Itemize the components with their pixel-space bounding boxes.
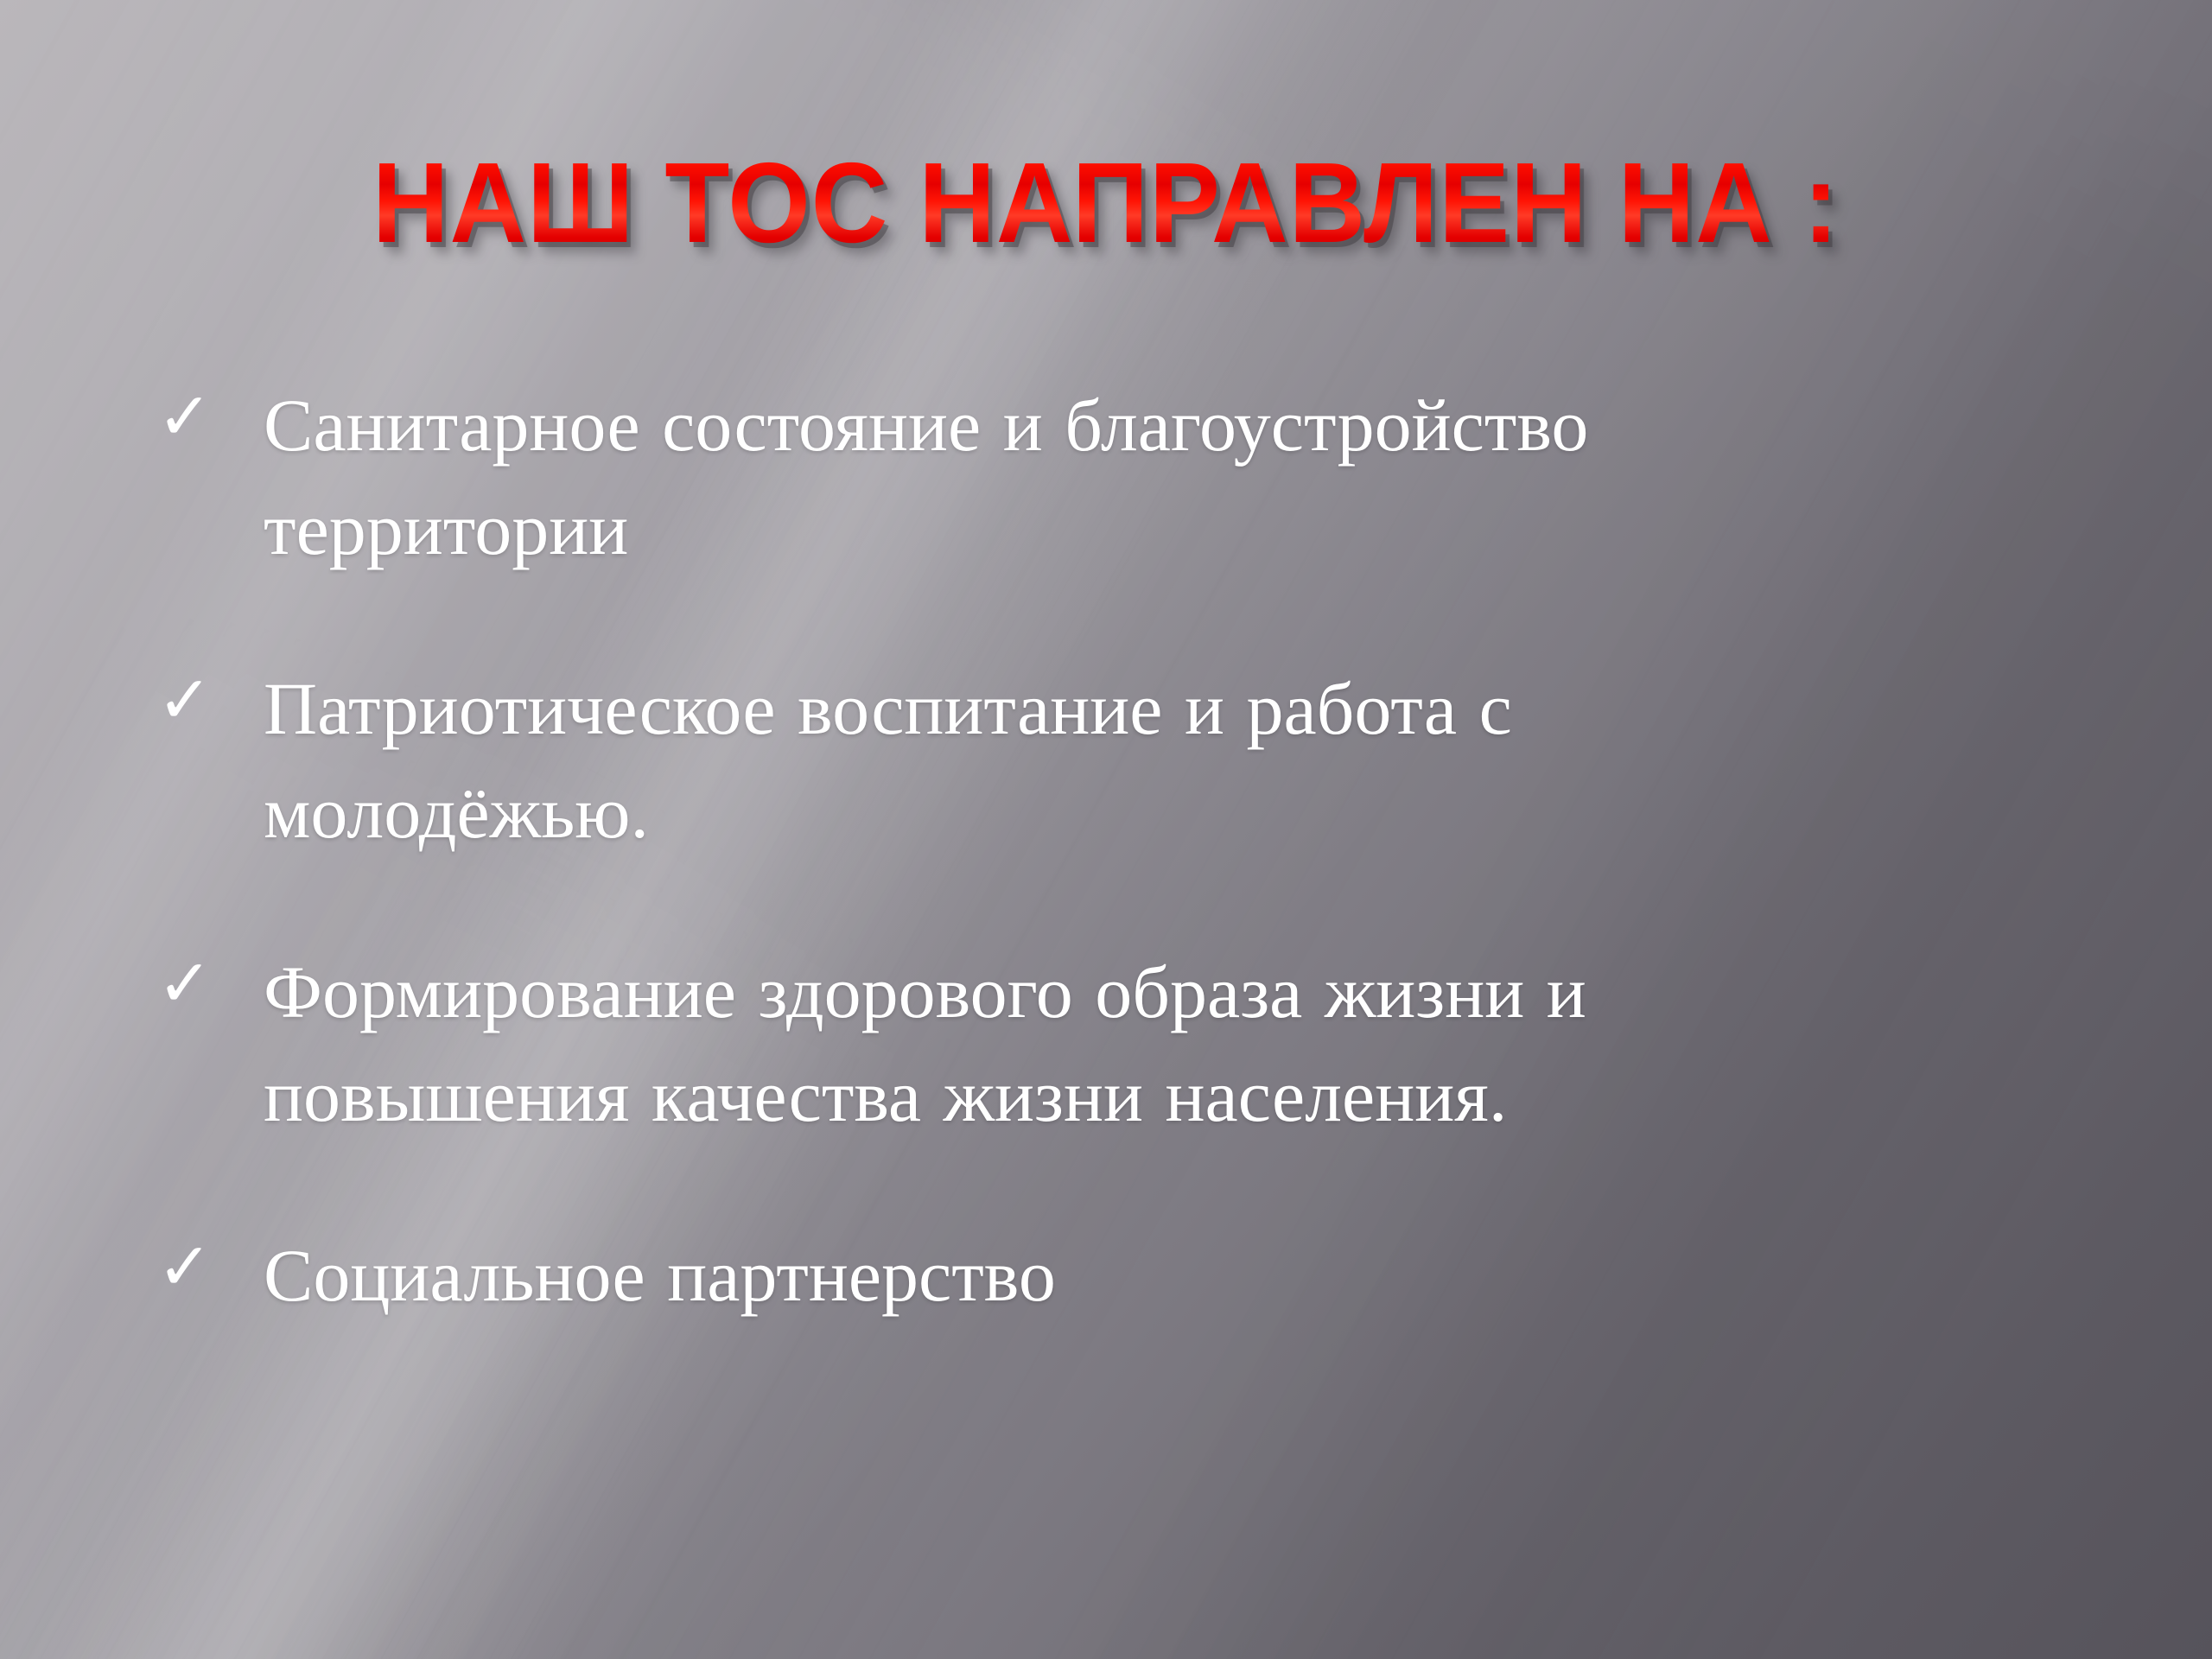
- list-item-label: Социальное партнерство: [264, 1224, 1905, 1327]
- check-mark-icon: ✓: [157, 375, 235, 458]
- list-item: ✓ Социальное партнерство: [152, 1224, 2139, 1327]
- bullet-list: ✓ Санитарное состояние и благоустройство…: [152, 373, 2139, 1327]
- list-item: ✓ Формирование здорового образа жизни и …: [152, 940, 2139, 1147]
- list-item: ✓ Патриотическое воспитание и работа с м…: [152, 657, 2139, 864]
- list-item-label: Санитарное состояние и благоустройство т…: [264, 373, 1905, 581]
- list-item-label: Формирование здорового образа жизни и по…: [264, 940, 1914, 1147]
- slide-title: НАШ ТОС НАПРАВЛЕН НА :: [372, 143, 1840, 264]
- presentation-slide: НАШ ТОС НАПРАВЛЕН НА : ✓ Санитарное сост…: [0, 0, 2212, 1659]
- slide-title-container: НАШ ТОС НАПРАВЛЕН НА :: [0, 67, 2212, 340]
- check-mark-icon: ✓: [157, 942, 235, 1025]
- check-mark-icon: ✓: [157, 1225, 235, 1308]
- list-item: ✓ Санитарное состояние и благоустройство…: [152, 373, 2139, 581]
- check-mark-icon: ✓: [157, 658, 235, 741]
- list-item-label: Патриотическое воспитание и работа с мол…: [264, 657, 1793, 864]
